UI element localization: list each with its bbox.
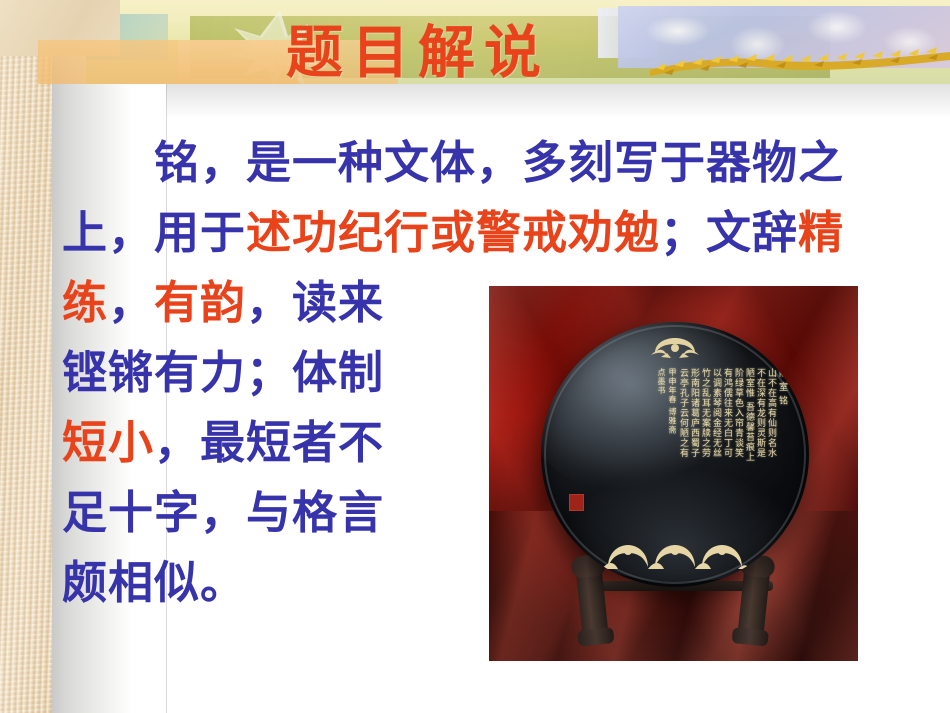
left-texture-strip <box>0 0 52 713</box>
plate-inscription: 陋 室 铭山不在高有仙则名水不在深有龙则灵斯是陋室惟 吾德馨苔痕上阶绿草色入帘青… <box>563 368 787 528</box>
body-text-run: 上，用于 <box>62 206 246 259</box>
inscription-column: 形南阳诸葛庐西蜀子 <box>689 368 699 528</box>
inscription-column: 山不在高有仙则名水 <box>766 368 776 528</box>
body-text-run: 颇相似。 <box>62 556 246 609</box>
lacquer-plate-photo: 陋 室 铭山不在高有仙则名水不在深有龙则灵斯是陋室惟 吾德馨苔痕上阶绿草色入帘青… <box>489 286 858 661</box>
red-seal-stamp <box>569 494 584 511</box>
inscription-column: 云亭孔子云何陋之有 <box>678 368 688 528</box>
inscription-column: 陋室惟 吾德馨苔痕上 <box>744 368 754 528</box>
banner-drop-shadow-lower <box>166 84 950 124</box>
body-text-run: 铿锵有力；体制 <box>62 346 384 399</box>
black-lacquer-plate: 陋 室 铭山不在高有仙则名水不在深有龙则灵斯是陋室惟 吾德馨苔痕上阶绿草色入帘青… <box>541 322 809 587</box>
inscription-column: 有鸿儒往来无白丁可 <box>722 368 732 528</box>
inscription-column: 以调素琴阅金经无丝 <box>711 368 721 528</box>
body-text-run: 短小 <box>62 416 154 469</box>
inscription-column: 点墨书 <box>656 368 666 528</box>
body-line: 铭，是一种文体，多刻写于器物之 <box>62 128 892 198</box>
body-text-run: 有韵 <box>154 276 246 329</box>
inscription-column: 竹之乱耳无案牍之劳 <box>700 368 710 528</box>
body-text-run: 述功纪行或警戒劝勉 <box>246 206 660 259</box>
body-text-run: ，最短者不 <box>154 416 384 469</box>
body-text-run: 练 <box>62 276 108 329</box>
body-line: 上，用于述功纪行或警戒劝勉；文辞精 <box>62 198 892 268</box>
inscription-column: 陋 室 铭 <box>777 368 787 528</box>
gold-ornament-bottom-icon <box>600 537 750 571</box>
golden-wheat-icon <box>650 44 950 78</box>
slide-canvas: 题目解说 铭，是一种文体，多刻写于器物之上，用于述功纪行或警戒劝勉；文辞精练，有… <box>0 0 950 713</box>
body-text-run: ，读来 <box>246 276 384 329</box>
inscription-column: 甲申年春 博雅斋 <box>667 368 677 528</box>
body-text-run: 足十字，与格言 <box>62 486 384 539</box>
page-title: 题目解说 <box>286 24 550 81</box>
inscription-column: 不在深有龙则灵斯是 <box>755 368 765 528</box>
gold-ornament-top-icon <box>647 335 703 361</box>
body-text-run: ， <box>108 276 154 329</box>
body-text-run: ；文辞 <box>660 206 798 259</box>
body-text-run: 精 <box>798 206 844 259</box>
inscription-column: 阶绿草色入帘青谈笑 <box>733 368 743 528</box>
body-text-run: 铭，是一种文体，多刻写于器物之 <box>154 136 844 189</box>
